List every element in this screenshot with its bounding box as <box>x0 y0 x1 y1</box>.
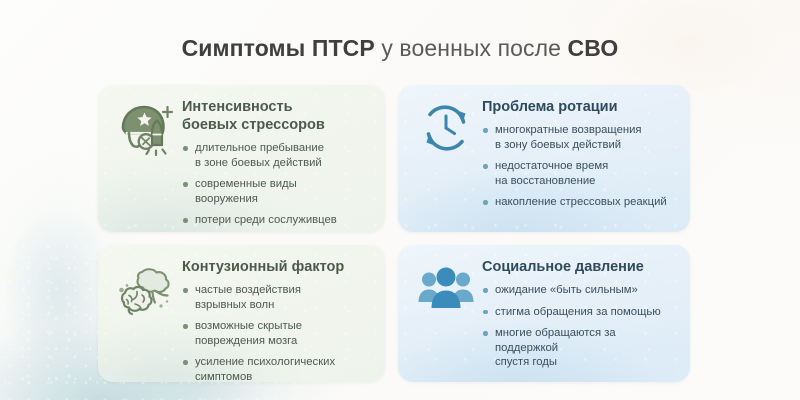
bullet-item: усиление психологических симптомов <box>182 355 371 382</box>
card-blast-factor[interactable]: Контузионный фактор частые воздействия в… <box>98 245 385 382</box>
bullet-item: недостаточное время на восстановление <box>482 159 676 188</box>
card-bullet-list: многократные возвращения в зону боевых д… <box>482 123 676 210</box>
card-bullet-list: длительное пребывание в зоне боевых дейс… <box>182 141 371 228</box>
card-title: Проблема ротации <box>482 98 676 116</box>
icon-container <box>110 258 182 372</box>
icon-container <box>110 98 182 222</box>
bullet-item: стигма обращения за помощью <box>482 305 676 320</box>
bullet-item: длительное пребывание в зоне боевых дейс… <box>182 141 371 170</box>
sparkle-icon <box>163 107 172 117</box>
card-bullet-list: частые воздействия взрывных волн возможн… <box>182 283 371 382</box>
brain-blast-icon <box>115 266 177 322</box>
bullet-item: частые воздействия взрывных волн <box>182 283 371 312</box>
card-bullet-list: ожидание «быть сильным» стигма обращения… <box>482 283 676 370</box>
bullet-item: ожидание «быть сильным» <box>482 283 676 298</box>
combat-helmet-icon <box>115 100 177 162</box>
bullet-item: возможные скрытые повреждения мозга <box>182 319 371 348</box>
bullet-item: потери среди сослуживцев <box>182 213 371 228</box>
card-title: Интенсивность боевых стрессоров <box>182 98 371 134</box>
bullet-item: многократные возвращения в зону боевых д… <box>482 123 676 152</box>
slide-title: Симптомы ПТСР у военных после СВО <box>0 33 800 63</box>
people-group-icon <box>417 266 475 314</box>
icon-container <box>410 98 482 222</box>
impact-lines-icon <box>147 150 166 156</box>
bullet-item: современные виды вооружения <box>182 177 371 206</box>
card-title: Контузионный фактор <box>182 258 371 276</box>
card-title: Социальное давление <box>482 258 676 276</box>
icon-container <box>410 258 482 372</box>
bullet-icon <box>152 121 162 146</box>
brain-icon <box>122 287 151 314</box>
clock-hands-icon <box>446 116 455 134</box>
slide-canvas: Симптомы ПТСР у военных после СВО <box>0 0 800 400</box>
card-combat-stressors[interactable]: Интенсивность боевых стрессоров длительн… <box>98 85 385 232</box>
slide-title-part-middle: у военных после <box>375 35 568 61</box>
card-rotation-problem[interactable]: Проблема ротации многократные возвращени… <box>398 85 690 232</box>
person-center-icon <box>432 268 461 309</box>
bullet-item: накопление стрессовых реакций <box>482 195 676 210</box>
slide-title-part-symptoms: Симптомы ПТСР <box>182 35 375 61</box>
bullet-item: многие обращаются за поддержкой спустя г… <box>482 326 676 370</box>
rotation-clock-icon <box>418 100 474 156</box>
slide-title-part-svo: СВО <box>568 35 619 61</box>
card-social-pressure[interactable]: Социальное давление ожидание «быть сильн… <box>398 245 690 382</box>
